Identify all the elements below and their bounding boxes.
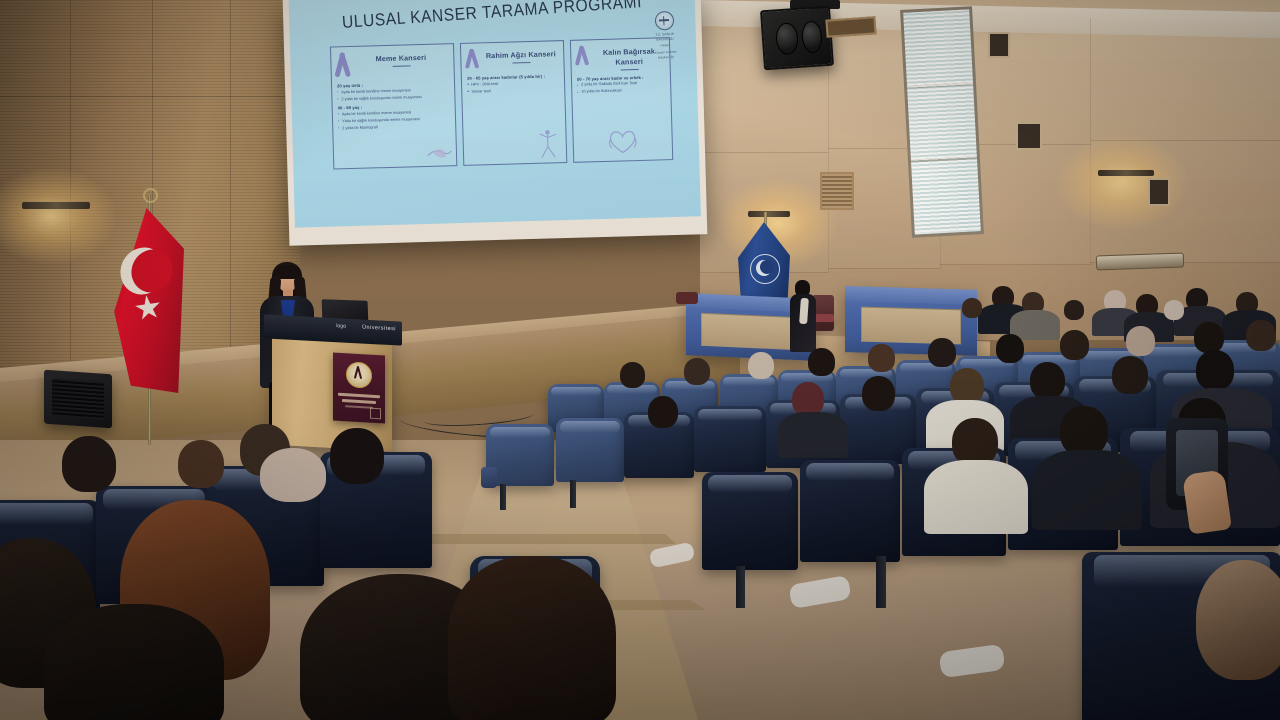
- floor-speaker-cabinet: [44, 370, 112, 429]
- audience-head-front: [1196, 560, 1280, 680]
- slide-title: ULUSAL KANSER TARAMA PROGRAMI: [289, 0, 695, 37]
- flag-finial: [143, 188, 158, 203]
- wall-frame: [825, 16, 876, 37]
- audience-head: [1060, 406, 1108, 456]
- card-title: Rahim Ağzı Kanseri: [483, 46, 558, 64]
- card-title: Kalın Bağırsak Kanseri: [593, 43, 665, 71]
- table-lip: [845, 286, 977, 304]
- wall-grille: [820, 172, 854, 210]
- wall-panel: [1090, 140, 1280, 263]
- card-header: Meme Kanseri: [336, 49, 449, 78]
- card-body: 20 yaş üstü : Ayda bir kendi kendine mem…: [337, 80, 450, 131]
- auditorium-seat: [702, 472, 798, 570]
- audience-head: [1194, 322, 1224, 353]
- audience-head: [648, 396, 678, 428]
- purple-ribbon-icon: [576, 45, 590, 67]
- wall-heater: [1096, 252, 1184, 270]
- window-pane: [911, 156, 981, 233]
- audience-head-hijab: [748, 352, 774, 379]
- audience-shoulders: [1032, 450, 1142, 530]
- auditorium-seat: [800, 460, 900, 562]
- seat-leg: [500, 484, 506, 510]
- card-illustration: [603, 124, 642, 159]
- card-title: Meme Kanseri: [353, 49, 449, 68]
- card-header: Rahim Ağzı Kanseri: [466, 46, 558, 71]
- bullet-item: 2 yılda bir sağlık kuruluşunda meme muay…: [337, 94, 449, 103]
- projection-screen: ULUSAL KANSER TARAMA PROGRAMI T.C. SAĞLI…: [283, 0, 708, 246]
- audience-hand: [1182, 469, 1232, 534]
- audience-head: [868, 344, 895, 372]
- title-underline: [620, 69, 638, 71]
- wall-vent: [1016, 122, 1042, 150]
- audience-head-hijab: [1164, 300, 1184, 320]
- podium-logo-mark: logo: [336, 323, 346, 330]
- seat-leg: [736, 566, 745, 608]
- table-panel: [701, 312, 798, 350]
- card-title-text: Meme Kanseri: [376, 53, 427, 63]
- poster-line: [345, 405, 373, 409]
- wall-panel: [1090, 16, 1280, 141]
- slide-card-kalin-bagirsak-kanseri: Kalın Bağırsak Kanseri 50 - 70 yaş arası…: [570, 37, 674, 163]
- audience-head: [1060, 330, 1089, 360]
- audience-shoulders: [924, 460, 1028, 534]
- window-pane: [903, 9, 973, 89]
- audience-head: [1112, 356, 1148, 394]
- podium-poster: [333, 352, 385, 423]
- slide-card-rahim-agzi-kanseri: Rahim Ağzı Kanseri 30 - 65 yaş arası kad…: [460, 40, 567, 166]
- card-body: 50 - 70 yaş arası kadın ve erkek : 2 yıl…: [577, 74, 666, 95]
- audience-head: [1030, 362, 1065, 399]
- card-header: Kalın Bağırsak Kanseri: [576, 43, 665, 71]
- audience-head: [1064, 300, 1084, 320]
- frosted-window: [900, 6, 984, 237]
- purple-ribbon-icon: [336, 52, 350, 78]
- audience-head: [808, 348, 835, 376]
- card-illustration: [532, 126, 563, 161]
- stage-attendee: [790, 280, 816, 352]
- card-body: 30 - 65 yaş arası kadınlar (5 yılda bir)…: [467, 73, 559, 95]
- audience-head: [950, 368, 984, 404]
- wall-lamp: [22, 202, 90, 209]
- auditorium-seat: [694, 406, 766, 472]
- audience-head-hijab: [1126, 326, 1155, 356]
- audience-head: [862, 376, 895, 411]
- poster-headline: [338, 393, 380, 398]
- seat-leg: [876, 556, 886, 608]
- audience-head: [792, 382, 824, 416]
- audience-head-hijab: [260, 448, 326, 502]
- auditorium-photo: ULUSAL KANSER TARAMA PROGRAMI T.C. SAĞLI…: [0, 0, 1280, 720]
- wall-lamp: [748, 211, 790, 217]
- audience-head-front: [44, 604, 224, 720]
- bullet-item: 10 yılda bir Kolonoskopi: [577, 88, 666, 96]
- audience-head-front: [448, 556, 616, 720]
- card-title-text: Kalın Bağırsak Kanseri: [603, 47, 655, 67]
- audience-head: [62, 436, 116, 492]
- wall-vent: [1148, 178, 1170, 206]
- speaker-grille: [52, 378, 104, 420]
- slide-card-meme-kanseri: Meme Kanseri 20 yaş üstü : Ayda bir kend…: [330, 43, 458, 169]
- audience-head: [178, 440, 224, 488]
- window-pane: [907, 83, 977, 163]
- audience-head: [684, 358, 710, 385]
- audience-head: [330, 428, 384, 484]
- audience-head: [1196, 350, 1234, 390]
- bullet-item: Smear testi: [467, 87, 559, 95]
- wall-seam: [0, 96, 300, 97]
- stage-table-right: [845, 286, 977, 356]
- speaker-driver: [775, 22, 799, 55]
- title-underline: [392, 66, 410, 68]
- audience-head: [952, 418, 998, 466]
- audience-head: [928, 338, 956, 367]
- speaker-driver: [801, 20, 823, 53]
- poster-ribbon-icon: [356, 366, 363, 380]
- audience-head: [1246, 320, 1276, 351]
- seat-leg: [570, 480, 576, 508]
- card-title-text: Rahim Ağzı Kanseri: [486, 49, 556, 60]
- university-seal-cut: [760, 260, 774, 274]
- audience-head: [620, 362, 645, 388]
- wall-lamp: [1098, 170, 1154, 176]
- title-underline: [512, 62, 530, 64]
- card-illustration: [423, 129, 454, 164]
- wall-vent: [988, 32, 1010, 58]
- stage-bag: [676, 292, 698, 304]
- ministry-crest-icon: [654, 11, 674, 31]
- slide-surface: ULUSAL KANSER TARAMA PROGRAMI T.C. SAĞLI…: [289, 0, 701, 228]
- aisle-step: [408, 534, 676, 544]
- audience-shoulders: [778, 412, 848, 458]
- auditorium-seat: [486, 424, 554, 486]
- purple-ribbon-icon: [466, 48, 480, 70]
- poster-qr: [370, 408, 381, 420]
- poster-subline: [342, 399, 376, 404]
- audience-head: [962, 298, 982, 318]
- auditorium-seat: [556, 418, 624, 482]
- slide-cards: Meme Kanseri 20 yaş üstü : Ayda bir kend…: [330, 37, 673, 169]
- audience-head: [996, 334, 1024, 363]
- podium-label: Üniversitesi: [362, 325, 396, 333]
- ceiling-speaker: [760, 6, 834, 71]
